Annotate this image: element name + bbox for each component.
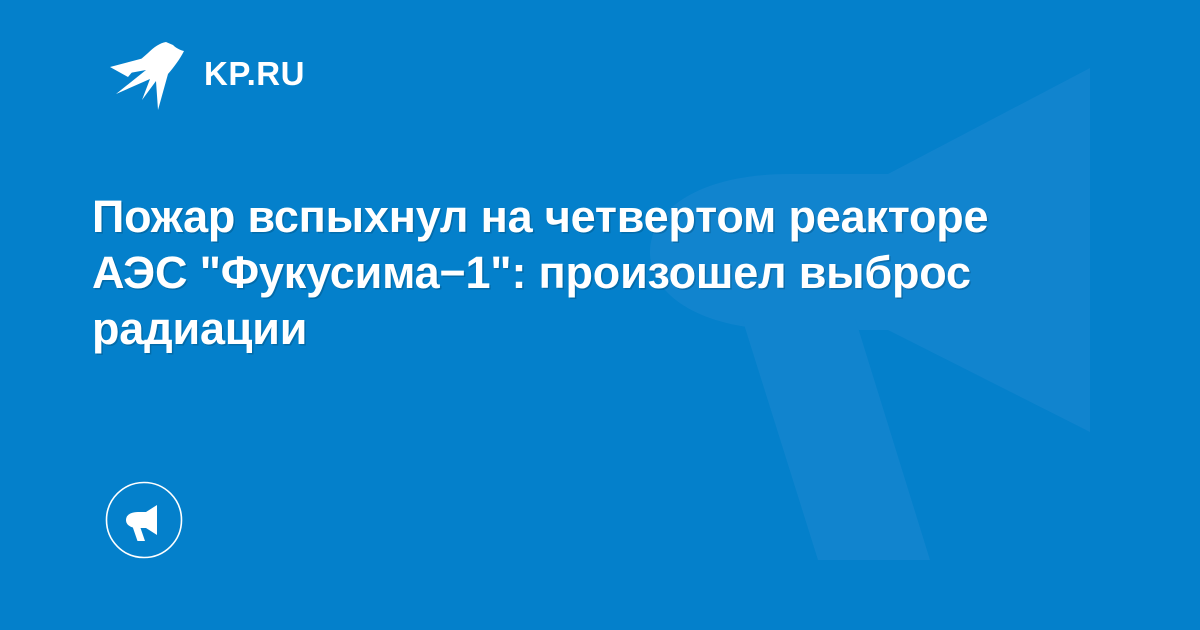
site-logo[interactable]: KP.RU (106, 33, 305, 115)
swallow-bird-icon (106, 34, 188, 114)
megaphone-badge[interactable] (105, 481, 183, 559)
headline-text: Пожар вспыхнул на четвертом реакторе АЭС… (92, 191, 988, 354)
brand-label: KP.RU (204, 57, 305, 92)
page-title: Пожар вспыхнул на четвертом реакторе АЭС… (92, 189, 1032, 357)
social-share-card: KP.RU Пожар вспыхнул на четвертом реакто… (0, 0, 1200, 630)
megaphone-icon (105, 481, 183, 559)
